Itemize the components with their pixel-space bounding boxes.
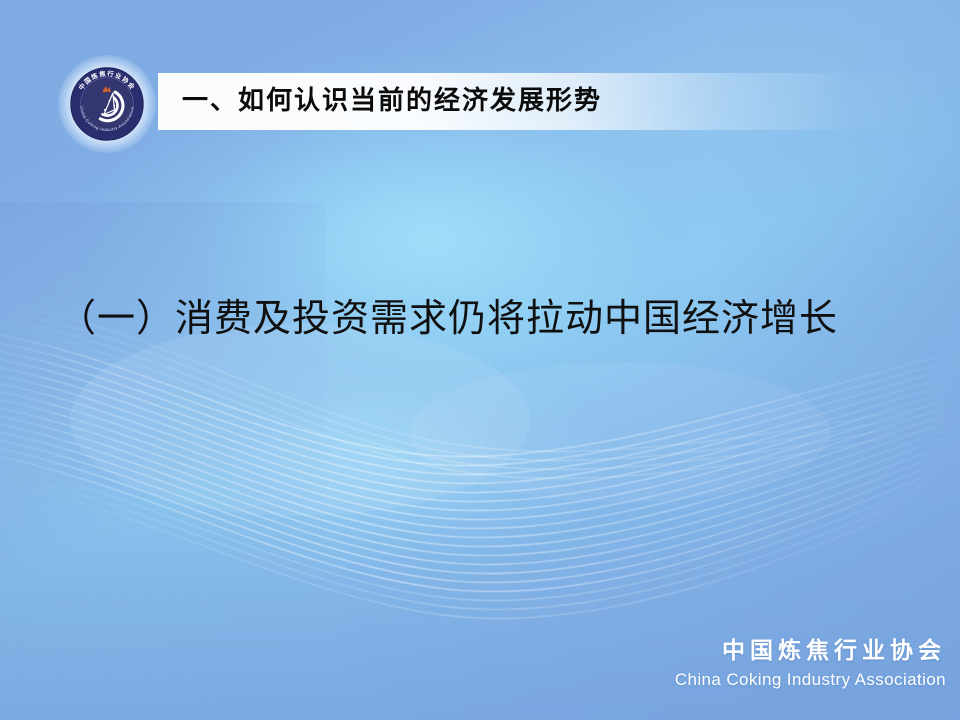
presentation-slide: 一、如何认识当前的经济发展形势 中国炼焦行业协会 China Coking In… <box>0 0 960 720</box>
footer-org-name-cn: 中国炼焦行业协会 <box>675 637 946 666</box>
footer-branding: 中国炼焦行业协会 China Coking Industry Associati… <box>675 637 946 692</box>
page-title: 一、如何认识当前的经济发展形势 <box>182 73 602 130</box>
association-seal-icon: 中国炼焦行业协会 China Coking Industry Associati… <box>70 67 144 141</box>
association-logo: 中国炼焦行业协会 China Coking Industry Associati… <box>58 55 156 153</box>
footer-org-name-en: China Coking Industry Association <box>675 668 946 692</box>
slide-main-heading: （一）消费及投资需求仍将拉动中国经济增长 <box>58 287 838 342</box>
